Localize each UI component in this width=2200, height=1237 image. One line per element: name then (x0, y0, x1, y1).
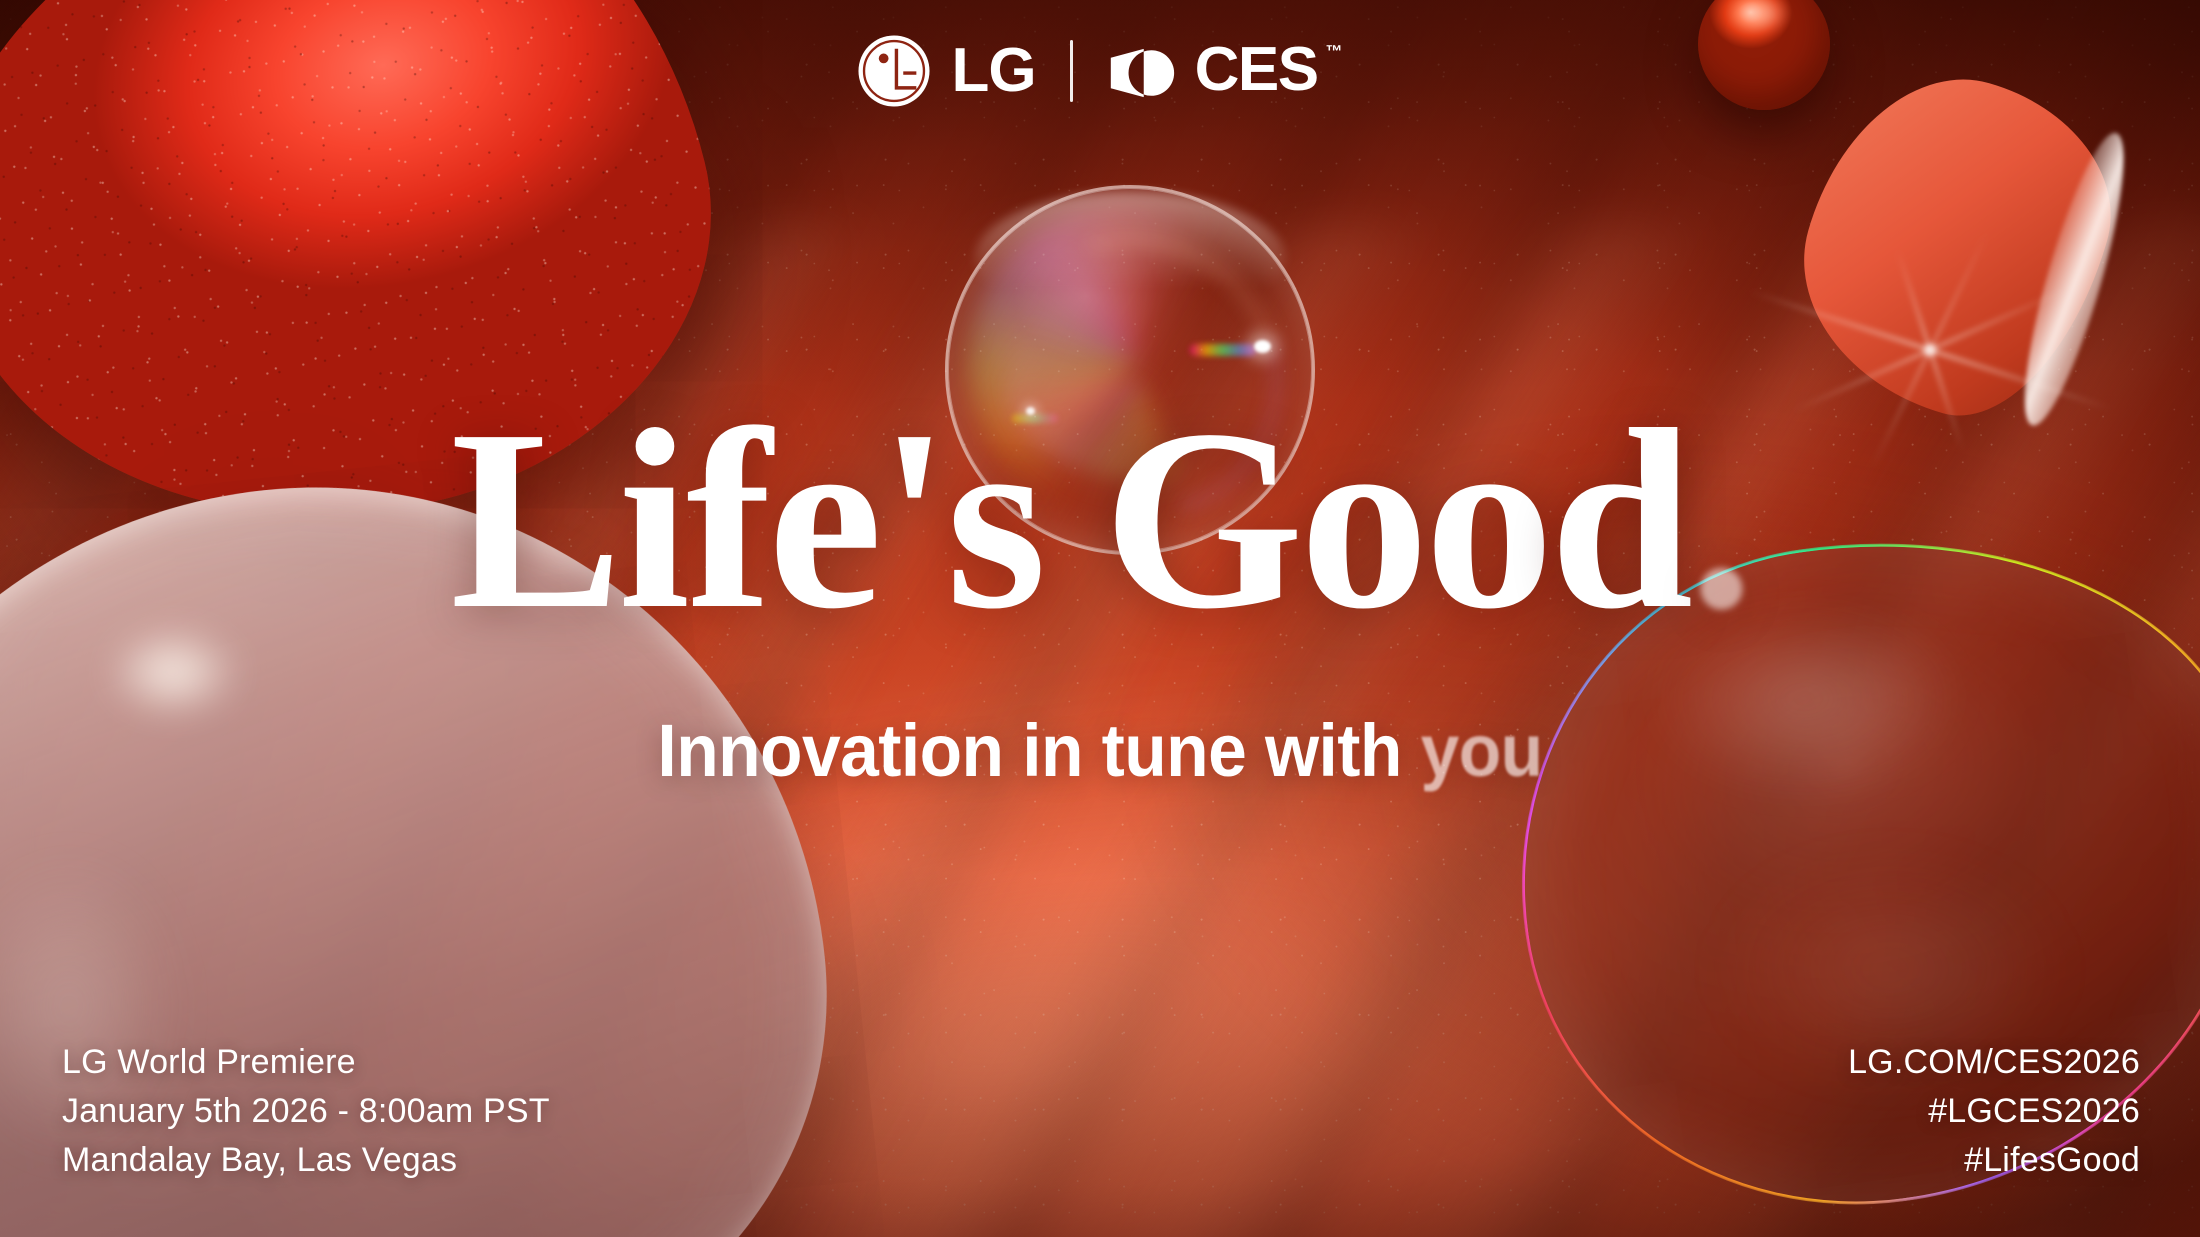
ces-wordmark: CES (1195, 39, 1318, 101)
website-url[interactable]: LG.COM/CES2026 (1848, 1038, 2140, 1087)
links-block: LG.COM/CES2026 #LGCES2026 #LifesGood (1848, 1038, 2140, 1185)
headline-period: . (1689, 376, 1750, 662)
logo-lockup: LG (0, 34, 2200, 108)
ces-logo-icon (1107, 42, 1183, 104)
ces-trademark-symbol: ™ (1326, 43, 1343, 60)
ces-logo-group[interactable]: CES ™ (1107, 39, 1343, 104)
event-details: LG World Premiere January 5th 2026 - 8:0… (62, 1038, 550, 1185)
lg-wordmark: LG (951, 40, 1035, 102)
event-venue: Mandalay Bay, Las Vegas (62, 1136, 550, 1185)
tagline: Innovation in tune with you (66, 710, 2134, 791)
logo-divider (1070, 40, 1073, 102)
headline-text: Life's Goo (450, 376, 1549, 662)
lg-logo-group[interactable]: LG (857, 34, 1035, 108)
ces-teaser-poster: LG (0, 0, 2200, 1237)
event-title: LG World Premiere (62, 1038, 550, 1087)
tagline-text-faded: you (1421, 709, 1543, 792)
lg-circle-logo-icon (857, 34, 931, 108)
tagline-text: Innovation in tune with (657, 709, 1420, 792)
hashtag-event[interactable]: #LGCES2026 (1848, 1087, 2140, 1136)
headline-text-d: d (1550, 376, 1690, 662)
page-title: Life's Good. (0, 398, 2200, 641)
hashtag-brand[interactable]: #LifesGood (1848, 1136, 2140, 1185)
event-datetime: January 5th 2026 - 8:00am PST (62, 1087, 550, 1136)
